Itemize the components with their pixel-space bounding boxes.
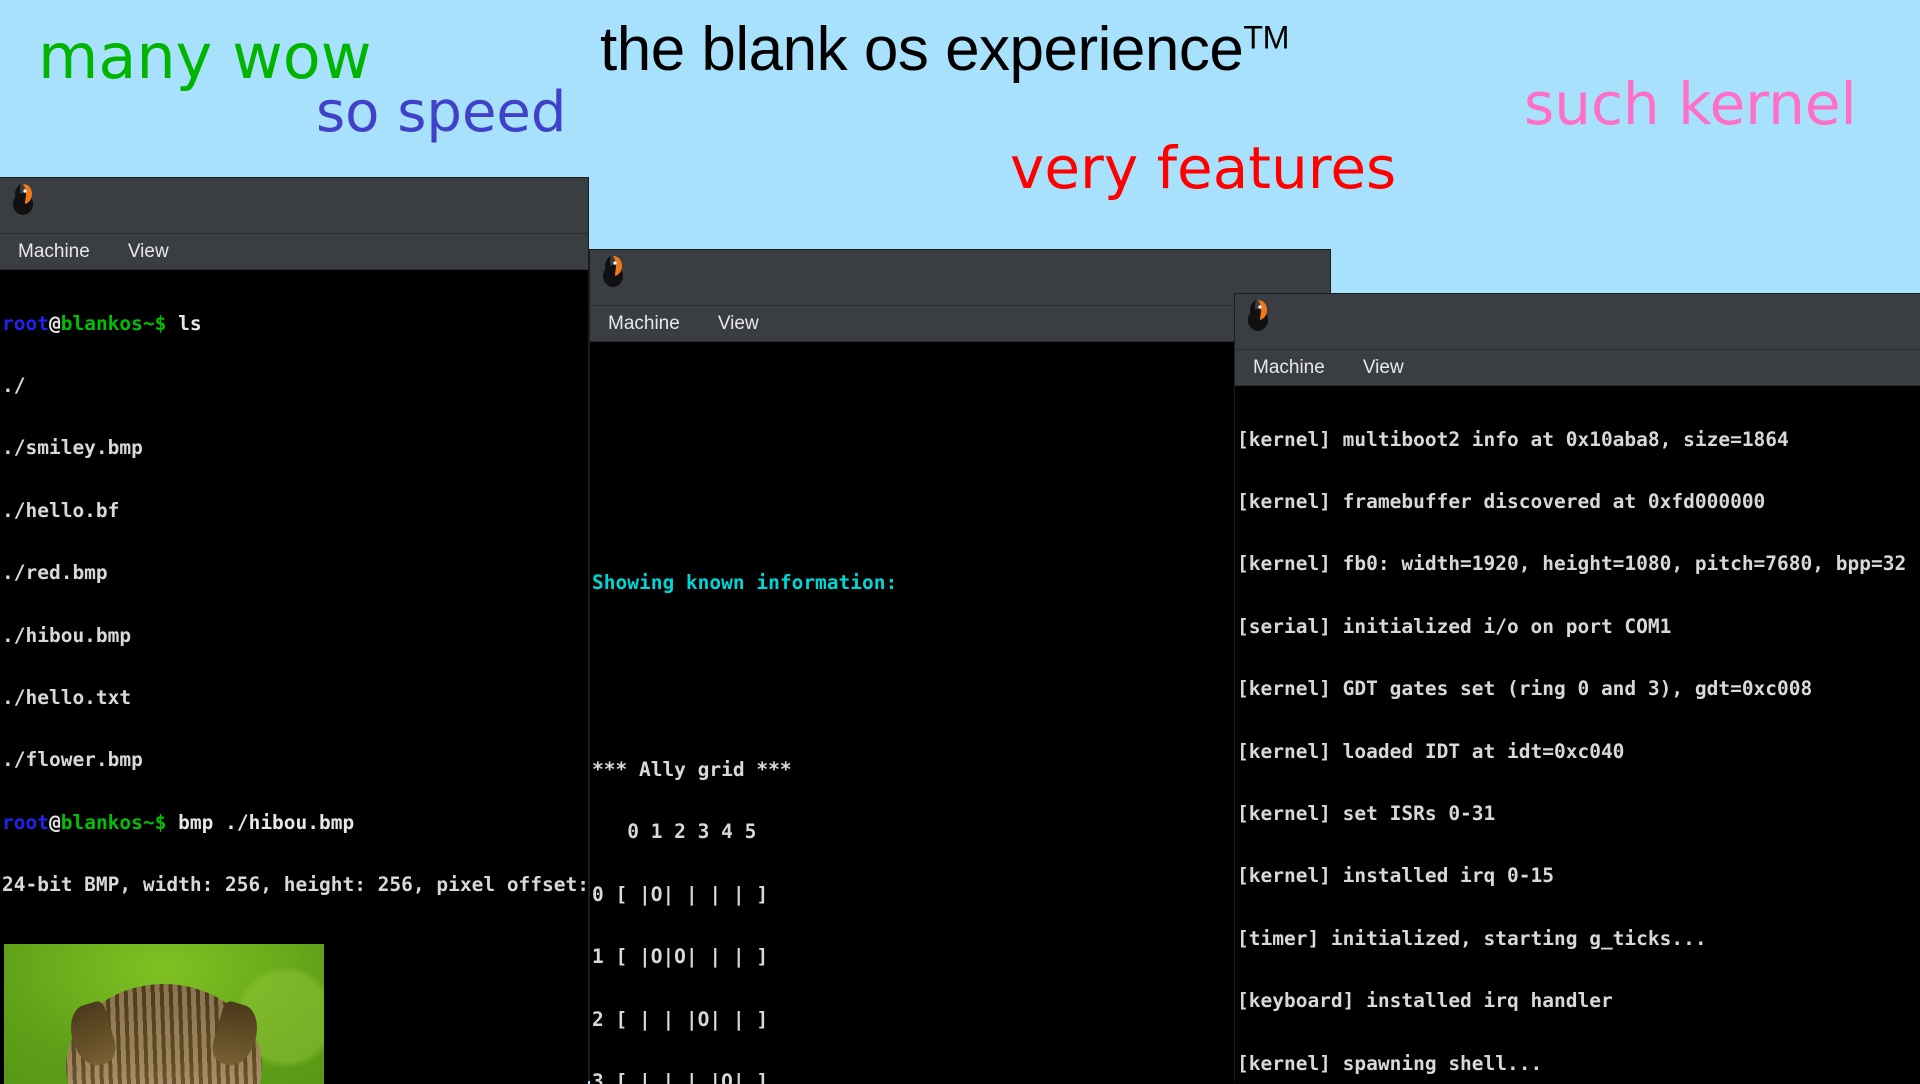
list-item: ./flower.bmp	[2, 750, 588, 771]
menubar[interactable]: Machine View	[1235, 350, 1920, 386]
trademark-symbol: TM	[1243, 19, 1289, 55]
log-line: [kernel] multiboot2 info at 0x10aba8, si…	[1237, 430, 1920, 451]
list-item: ./	[2, 376, 588, 397]
menu-machine[interactable]: Machine	[604, 311, 684, 337]
page-title-text: the blank os experience	[600, 15, 1243, 84]
prompt-host: blankos~$	[61, 811, 167, 834]
log-line: [kernel] set ISRs 0-31	[1237, 804, 1920, 825]
qemu-window-game[interactable]: Machine View Showing known information: …	[590, 250, 1330, 1080]
caption-so-speed: so speed	[316, 80, 566, 145]
prompt-line: root@blankos~$ bmp ./hibou.bmp	[2, 813, 588, 834]
terminal-screen-files[interactable]: root@blankos~$ ls ./ ./smiley.bmp ./hell…	[0, 270, 588, 1084]
prompt-at: @	[49, 811, 61, 834]
command-ls: ls	[178, 312, 201, 335]
prompt-user: root	[2, 312, 49, 335]
titlebar[interactable]	[1235, 294, 1920, 350]
menu-view[interactable]: View	[124, 239, 173, 265]
table-row: 3 [ | | | |O| ]	[592, 1072, 1330, 1084]
owl-ear-tuft-left	[64, 999, 120, 1070]
hibou-owl-photo	[4, 944, 324, 1084]
titlebar[interactable]	[590, 250, 1330, 306]
menubar[interactable]: Machine View	[0, 234, 588, 270]
prompt-host: blankos~$	[61, 312, 167, 335]
prompt-at: @	[49, 312, 61, 335]
list-item: ./hello.txt	[2, 688, 588, 709]
log-line: [timer] initialized, starting g_ticks...	[1237, 929, 1920, 950]
table-row: 2 [ | | |O| | ]	[592, 1010, 1330, 1031]
log-line: [kernel] GDT gates set (ring 0 and 3), g…	[1237, 679, 1920, 700]
log-line: [kernel] spawning shell...	[1237, 1054, 1920, 1075]
log-line: [kernel] installed irq 0-15	[1237, 866, 1920, 887]
qemu-bird-icon	[8, 182, 38, 216]
menu-view[interactable]: View	[1359, 355, 1408, 381]
menu-view[interactable]: View	[714, 311, 763, 337]
qemu-window-kernel[interactable]: Machine View [kernel] multiboot2 info at…	[1235, 294, 1920, 1080]
menu-machine[interactable]: Machine	[14, 239, 94, 265]
page-title: the blank os experienceTM	[600, 14, 1289, 85]
qemu-window-files[interactable]: Machine View root@blankos~$ ls ./ ./smil…	[0, 178, 588, 1080]
ally-grid-colheader: 0 1 2 3 4 5	[592, 822, 1330, 843]
titlebar[interactable]	[0, 178, 588, 234]
terminal-screen-game[interactable]: Showing known information: *** Ally grid…	[590, 342, 1330, 1084]
qemu-bird-icon	[598, 254, 628, 288]
list-item: ./smiley.bmp	[2, 438, 588, 459]
prompt-user: root	[2, 811, 49, 834]
list-item: ./hello.bf	[2, 501, 588, 522]
terminal-screen-kernel[interactable]: [kernel] multiboot2 info at 0x10aba8, si…	[1235, 386, 1920, 1084]
ally-grid-title: *** Ally grid ***	[592, 760, 1330, 781]
log-line: [keyboard] installed irq handler	[1237, 991, 1920, 1012]
table-row: 1 [ |O|O| | | ]	[592, 947, 1330, 968]
log-line: [kernel] fb0: width=1920, height=1080, p…	[1237, 554, 1920, 575]
caption-very-features: very features	[1010, 134, 1396, 202]
log-line: [serial] initialized i/o on port COM1	[1237, 617, 1920, 638]
log-line: [kernel] loaded IDT at idt=0xc040	[1237, 742, 1920, 763]
menu-machine[interactable]: Machine	[1249, 355, 1329, 381]
list-item: ./hibou.bmp	[2, 626, 588, 647]
menubar[interactable]: Machine View	[590, 306, 1330, 342]
log-line: [kernel] framebuffer discovered at 0xfd0…	[1237, 492, 1920, 513]
list-item: ./red.bmp	[2, 563, 588, 584]
table-row: 0 [ |O| | | | ]	[592, 885, 1330, 906]
caption-such-kernel: such kernel	[1524, 70, 1857, 138]
bmp-info: 24-bit BMP, width: 256, height: 256, pix…	[2, 875, 588, 896]
game-header: Showing known information:	[592, 573, 1330, 594]
command-bmp: bmp ./hibou.bmp	[178, 811, 354, 834]
qemu-bird-icon	[1243, 298, 1273, 332]
prompt-line: root@blankos~$ ls	[2, 314, 588, 335]
